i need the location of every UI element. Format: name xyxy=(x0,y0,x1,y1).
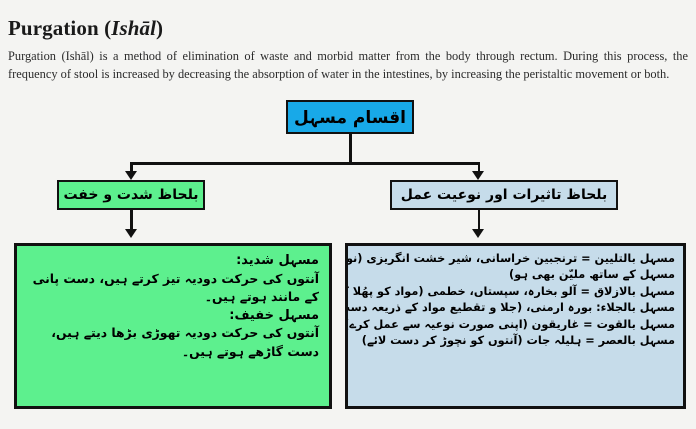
panel-line: مسہل بالتلیین = ترنجبین خراسانی، شیر خشت… xyxy=(356,251,675,267)
page-title: Purgation (Ishāl) xyxy=(8,16,163,41)
page-title-main: Purgation ( xyxy=(8,16,111,40)
panel-effects-details: مسہل بالتلیین = ترنجبین خراسانی، شیر خشت… xyxy=(345,243,686,409)
diagram-root-label: اقسام مسہل xyxy=(294,107,406,128)
page-title-italic: Ishāl xyxy=(111,16,156,40)
panel-severity-details: مسہل شدید: آنتوں کی حرکت دودیہ تیز کرتے … xyxy=(14,243,332,409)
branch-node-effects: بلحاظ تاثیرات اور نوعیت عمل xyxy=(390,180,618,210)
branch-node-severity: بلحاظ شدت و خفت xyxy=(57,180,205,210)
connector-left-to-panel xyxy=(130,210,133,230)
intro-paragraph: Purgation (Ishāl) is a method of elimina… xyxy=(8,48,688,83)
panel-line: کے مانند ہوتے ہیں۔ xyxy=(27,288,319,307)
purgation-types-diagram: اقسام مسہل بلحاظ شدت و خفت بلحاظ تاثیرات… xyxy=(0,96,696,429)
panel-line: مسہل بالجلاء: بورہ ارمنی، (جلا و تقطیع م… xyxy=(356,300,675,316)
panel-line: مسہل بالقوت = غاریقون (اپنی صورت نوعیہ س… xyxy=(356,317,675,333)
diagram-root-node: اقسام مسہل xyxy=(286,100,414,134)
panel-line: آنتوں کی حرکت دودیہ تھوڑی بڑھا دیتے ہیں، xyxy=(27,324,319,343)
connector-root-stem xyxy=(349,134,352,164)
branch-node-severity-label: بلحاظ شدت و خفت xyxy=(63,187,198,203)
connector-right-to-panel xyxy=(478,210,481,230)
connector-horizontal-bar xyxy=(130,162,480,165)
arrowhead-to-left-panel xyxy=(125,229,137,238)
arrowhead-to-left-branch xyxy=(125,171,137,180)
document-page: Purgation (Ishāl) Purgation (Ishāl) is a… xyxy=(0,0,696,429)
branch-node-effects-label: بلحاظ تاثیرات اور نوعیت عمل xyxy=(401,187,608,203)
arrowhead-to-right-branch xyxy=(472,171,484,180)
panel-line: آنتوں کی حرکت دودیہ تیز کرتے ہیں، دست پا… xyxy=(27,270,319,289)
panel-line: دست گاڑھے ہوتے ہیں۔ xyxy=(27,343,319,362)
panel-line: مسہل شدید: xyxy=(27,252,319,270)
panel-line: مسہل بالازلاق = آلو بخارہ، سپستاں، خطمی … xyxy=(356,284,675,300)
panel-line: مسہل بالعصر = ہلیلہ جات (آنتوں کو نچوڑ ک… xyxy=(356,333,675,349)
panel-line: مسہل کے ساتھ ملیّن بھی ہو) xyxy=(356,267,675,283)
arrowhead-to-right-panel xyxy=(472,229,484,238)
panel-line: مسہل خفیف: xyxy=(27,307,319,325)
page-title-close: ) xyxy=(156,16,163,40)
